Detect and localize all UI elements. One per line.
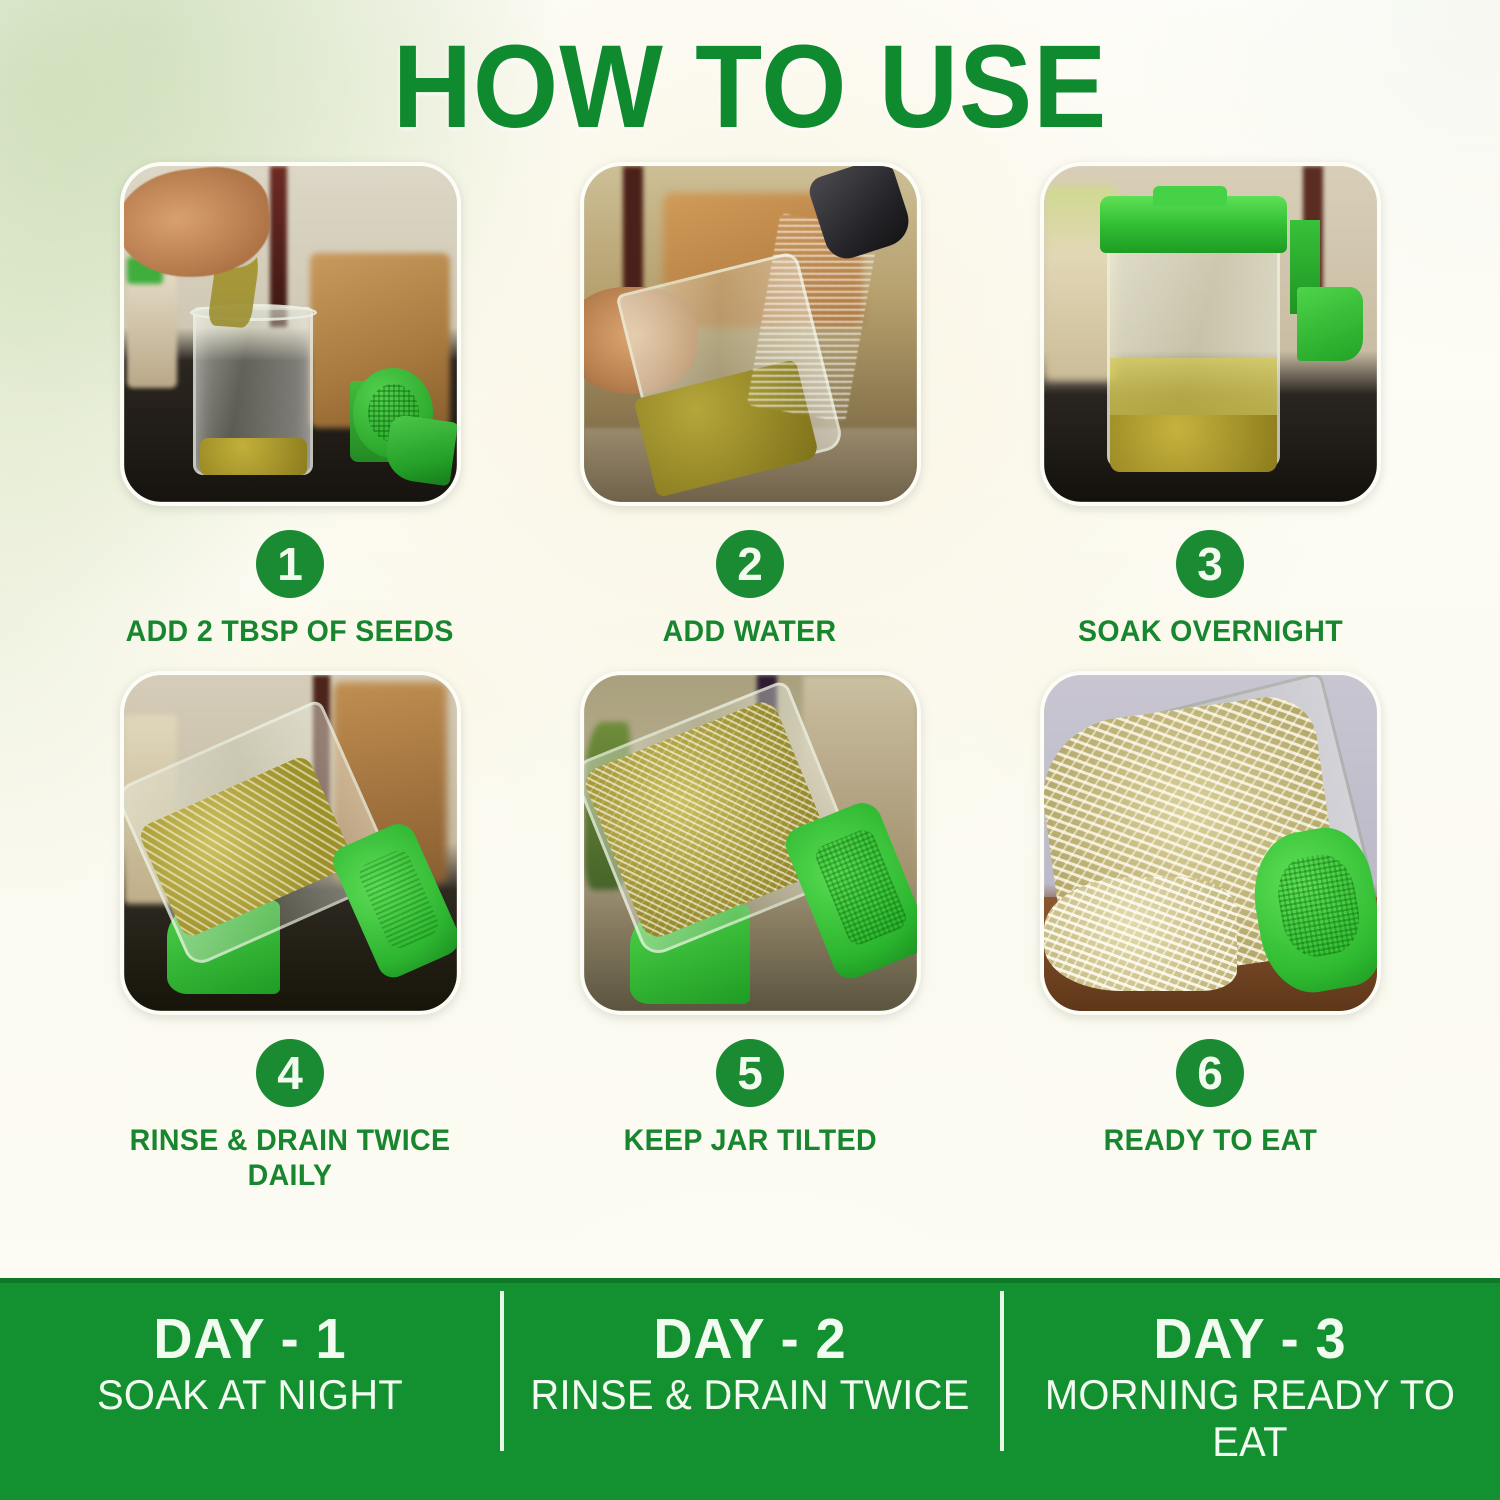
day-subtitle: MORNING READY TO EAT [1013, 1371, 1488, 1465]
background-jar [127, 274, 177, 388]
step-caption: READY TO EAT [1103, 1123, 1317, 1158]
step-caption: ADD 2 TBSP OF SEEDS [126, 614, 454, 649]
photo-add-water [580, 162, 921, 506]
step-card-6: 6 READY TO EAT [980, 671, 1440, 1193]
day-column-3: DAY - 3 MORNING READY TO EAT [1000, 1283, 1500, 1465]
step-caption: SOAK OVERNIGHT [1077, 614, 1342, 649]
scene-soak-overnight [1044, 166, 1377, 502]
day-subtitle: RINSE & DRAIN TWICE [513, 1371, 988, 1418]
step-number-badge: 1 [256, 530, 324, 598]
scene-add-water [584, 166, 917, 502]
step-card-2: 2 ADD WATER [520, 162, 980, 649]
step-card-4: 4 RINSE & DRAIN TWICE DAILY [60, 671, 520, 1193]
scene-keep-tilted [584, 675, 917, 1011]
seeds-in-jar [1110, 415, 1277, 472]
photo-ready-to-eat [1040, 671, 1381, 1015]
green-spout [1297, 287, 1364, 361]
day-title: DAY - 2 [513, 1309, 988, 1369]
door-frame [623, 166, 643, 307]
day-column-2: DAY - 2 RINSE & DRAIN TWICE [500, 1283, 1000, 1418]
step-number-badge: 2 [716, 530, 784, 598]
sprout-pile [1044, 877, 1237, 991]
step-number-badge: 5 [716, 1039, 784, 1107]
scene-add-seeds [124, 166, 457, 502]
day-subtitle: SOAK AT NIGHT [13, 1371, 488, 1418]
step-card-3: 3 SOAK OVERNIGHT [980, 162, 1440, 649]
day-title: DAY - 3 [1013, 1309, 1488, 1369]
scene-rinse-drain [124, 675, 457, 1011]
day-column-1: DAY - 1 SOAK AT NIGHT [0, 1283, 500, 1418]
step-caption: ADD WATER [663, 614, 837, 649]
step-card-5: 5 KEEP JAR TILTED [520, 671, 980, 1193]
step-number-badge: 4 [256, 1039, 324, 1107]
door-frame [270, 166, 287, 327]
step-caption: RINSE & DRAIN TWICE DAILY [100, 1123, 480, 1193]
step-card-1: 1 ADD 2 TBSP OF SEEDS [60, 162, 520, 649]
lid-tab [1153, 186, 1226, 206]
page-title: HOW TO USE [53, 0, 1448, 146]
photo-keep-tilted [580, 671, 921, 1015]
scene-ready-to-eat [1044, 675, 1377, 1011]
photo-soak-overnight [1040, 162, 1381, 506]
photo-add-seeds [120, 162, 461, 506]
seeds-in-jar [200, 438, 307, 475]
step-number-badge: 6 [1176, 1039, 1244, 1107]
step-number-badge: 3 [1176, 530, 1244, 598]
timeline-banner: DAY - 1 SOAK AT NIGHT DAY - 2 RINSE & DR… [0, 1278, 1500, 1500]
photo-rinse-drain [120, 671, 461, 1015]
steps-grid: 1 ADD 2 TBSP OF SEEDS 2 ADD WATER [0, 162, 1500, 1193]
infographic-page: HOW TO USE [0, 0, 1500, 1500]
day-title: DAY - 1 [13, 1309, 488, 1369]
step-caption: KEEP JAR TILTED [623, 1123, 876, 1158]
